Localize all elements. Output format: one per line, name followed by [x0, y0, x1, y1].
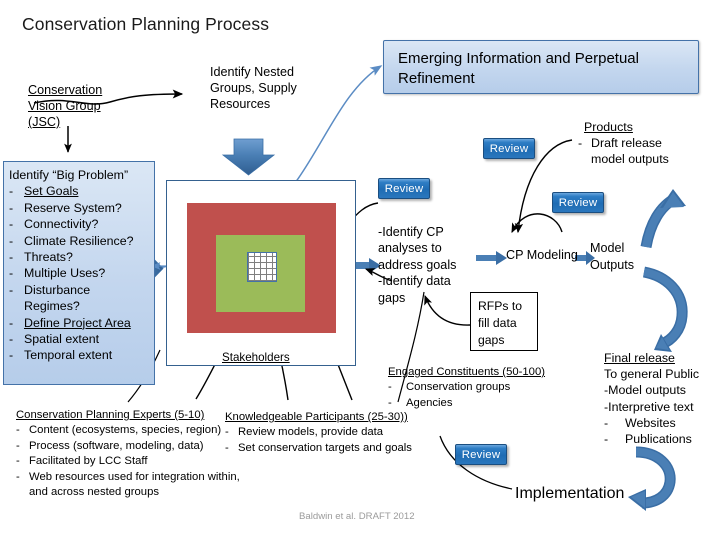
engaged-constituents-block: Engaged Constituents (50-100) -Conservat…	[388, 365, 545, 411]
model-outputs-line2: Outputs	[590, 257, 634, 274]
cp-experts-header: Conservation Planning Experts (5-10)	[16, 408, 240, 423]
diagram-canvas: Conservation Planning Process	[0, 0, 720, 540]
stakeholders-label: Stakeholders	[222, 350, 290, 366]
big-problem-item-label: Climate Resilience?	[24, 233, 150, 249]
final-release-line: -Interpretive text	[604, 399, 699, 415]
big-problem-item-label: Define Project Area	[24, 315, 150, 331]
knowledgeable-participants-block: Knowledgeable Participants (25-30)) -Rev…	[225, 410, 412, 456]
knowledgeable-participants-item: -Set conservation targets and goals	[225, 441, 412, 456]
dash: -	[388, 396, 406, 411]
rfps-line1: RFPs to	[478, 298, 537, 315]
dash: -	[225, 441, 238, 456]
cvg-line3: (JSC)	[28, 114, 102, 130]
identify-nested-groups: Identify Nested Groups, Supply Resources	[210, 64, 297, 112]
cvg-line2: Vision Group	[28, 98, 102, 114]
dash: -	[16, 470, 29, 485]
products-block: Products - Draft release model outputs	[578, 119, 669, 167]
rfps-box: RFPs to fill data gaps	[470, 292, 538, 351]
cp-experts-item: -Web resources used for integration with…	[16, 470, 240, 485]
big-problem-item: -Disturbance	[9, 282, 150, 298]
cp-experts-item-label: Web resources used for integration withi…	[29, 470, 240, 485]
big-problem-item-label: Multiple Uses?	[24, 265, 150, 281]
big-problem-item-label: Spatial extent	[24, 331, 150, 347]
cp-experts-item: -Content (ecosystems, species, region)	[16, 423, 240, 438]
dash: -	[9, 216, 24, 232]
dash: -	[225, 425, 238, 440]
review-button-2[interactable]: Review	[483, 138, 535, 159]
dash: -	[9, 315, 24, 331]
dash: -	[9, 282, 24, 298]
rfps-line2: fill data	[478, 315, 537, 332]
cvg-line1: Conservation	[28, 82, 102, 98]
implementation-label: Implementation	[515, 485, 624, 503]
big-problem-item: -Climate Resilience?	[9, 233, 150, 249]
big-problem-item-label: Temporal extent	[24, 347, 150, 363]
final-release-bullet: -Publications	[604, 431, 699, 447]
cp-experts-item: -Process (software, modeling, data)	[16, 439, 240, 454]
curved-arrow-down-right	[644, 272, 682, 352]
cp-experts-item: -Facilitated by LCC Staff	[16, 454, 240, 469]
identify-big-problem-panel: Identify “Big Problem” -Set Goals -Reser…	[3, 161, 155, 385]
final-release-line: To general Public	[604, 366, 699, 382]
big-problem-item-label: Regimes?	[24, 298, 150, 314]
big-problem-item: -Connectivity?	[9, 216, 150, 232]
final-release-bullet-label: Publications	[617, 431, 699, 447]
products-header: Products	[584, 119, 669, 135]
analysis-line3: address goals	[378, 257, 456, 273]
emerging-information-box: Emerging Information and Perpetual Refin…	[383, 40, 699, 94]
final-release-line: -Model outputs	[604, 382, 699, 398]
conservation-vision-group: Conservation Vision Group (JSC)	[28, 82, 102, 130]
big-problem-item: -Spatial extent	[9, 331, 150, 347]
nested-line1: Identify Nested	[210, 64, 297, 80]
big-problem-item: -Define Project Area	[9, 315, 150, 331]
dash: -	[604, 431, 617, 447]
review-button-4[interactable]: Review	[455, 444, 507, 465]
credit-line: Baldwin et al. DRAFT 2012	[299, 511, 415, 522]
knowledgeable-participants-item-label: Review models, provide data	[238, 425, 412, 440]
knowledgeable-participants-header: Knowledgeable Participants (25-30))	[225, 410, 412, 425]
engaged-constituents-item-label: Agencies	[406, 396, 545, 411]
cp-experts-item-label: Process (software, modeling, data)	[29, 439, 240, 454]
dash: -	[9, 249, 24, 265]
nested-line3: Resources	[210, 96, 297, 112]
dash: -	[16, 423, 29, 438]
knowledgeable-participants-item-label: Set conservation targets and goals	[238, 441, 412, 456]
final-release-header: Final release	[604, 350, 699, 366]
big-problem-item: -Multiple Uses?	[9, 265, 150, 281]
emerging-line1: Emerging Information and Perpetual	[398, 49, 698, 69]
analysis-line5: gaps	[378, 290, 456, 306]
products-item: - Draft release model outputs	[578, 135, 669, 167]
blue-arrow-into-cpmodeling	[476, 251, 507, 265]
dash: -	[9, 347, 24, 363]
big-problem-item-label: Disturbance	[24, 282, 150, 298]
dash: -	[604, 415, 617, 431]
knowledgeable-participants-item: -Review models, provide data	[225, 425, 412, 440]
final-release-block: Final release To general Public -Model o…	[604, 350, 699, 447]
emerging-line2: Refinement	[398, 69, 698, 89]
model-outputs-line1: Model	[590, 240, 634, 257]
analysis-line1: -Identify CP	[378, 224, 456, 240]
dash: -	[9, 183, 24, 199]
nested-line2: Groups, Supply	[210, 80, 297, 96]
core-group-rect	[247, 252, 277, 282]
cp-experts-continuation-label: and across nested groups	[29, 485, 240, 500]
blue-down-arrow	[223, 139, 274, 175]
cp-experts-continuation: and across nested groups	[16, 485, 240, 500]
arrow-review2-to-modeling	[512, 214, 562, 232]
big-problem-item: -Temporal extent	[9, 347, 150, 363]
rfps-line3: gaps	[478, 332, 537, 349]
big-problem-item-label: Threats?	[24, 249, 150, 265]
big-problem-item: Regimes?	[9, 298, 150, 314]
engaged-constituents-item: -Conservation groups	[388, 380, 545, 395]
big-problem-item: -Set Goals	[9, 183, 150, 199]
dash	[9, 298, 24, 314]
cp-modeling-label: CP Modeling	[506, 248, 578, 264]
dash: -	[16, 439, 29, 454]
page-title: Conservation Planning Process	[22, 14, 269, 35]
engaged-constituents-item: -Agencies	[388, 396, 545, 411]
big-problem-item-label: Set Goals	[24, 183, 150, 199]
dash	[16, 485, 29, 500]
cp-experts-item-label: Facilitated by LCC Staff	[29, 454, 240, 469]
cp-experts-item-label: Content (ecosystems, species, region)	[29, 423, 240, 438]
big-problem-item-label: Connectivity?	[24, 216, 150, 232]
analysis-line2: analyses to	[378, 240, 456, 256]
identify-cp-analyses: -Identify CP analyses to address goals -…	[378, 224, 456, 306]
dash: -	[9, 200, 24, 216]
engaged-constituents-item-label: Conservation groups	[406, 380, 545, 395]
review-button-1[interactable]: Review	[378, 178, 430, 199]
final-release-bullet-label: Websites	[617, 415, 699, 431]
products-item-line1: Draft release	[591, 136, 662, 150]
dash: -	[9, 265, 24, 281]
model-outputs-label: Model Outputs	[590, 240, 634, 274]
big-problem-item-label: Reserve System?	[24, 200, 150, 216]
analysis-line4: -Identify data	[378, 273, 456, 289]
dash: -	[9, 331, 24, 347]
dash: -	[9, 233, 24, 249]
products-item-line2: model outputs	[591, 152, 669, 166]
curved-arrow-up-right	[646, 189, 686, 247]
dash: -	[388, 380, 406, 395]
cp-experts-block: Conservation Planning Experts (5-10) -Co…	[16, 408, 240, 500]
dash: -	[16, 454, 29, 469]
review-button-3[interactable]: Review	[552, 192, 604, 213]
big-problem-header: Identify “Big Problem”	[9, 167, 150, 183]
engaged-constituents-header: Engaged Constituents (50-100)	[388, 365, 545, 380]
curved-arrow-to-implementation	[628, 452, 670, 511]
dash: -	[578, 135, 591, 167]
final-release-bullet: -Websites	[604, 415, 699, 431]
big-problem-item: -Reserve System?	[9, 200, 150, 216]
big-problem-item: -Threats?	[9, 249, 150, 265]
